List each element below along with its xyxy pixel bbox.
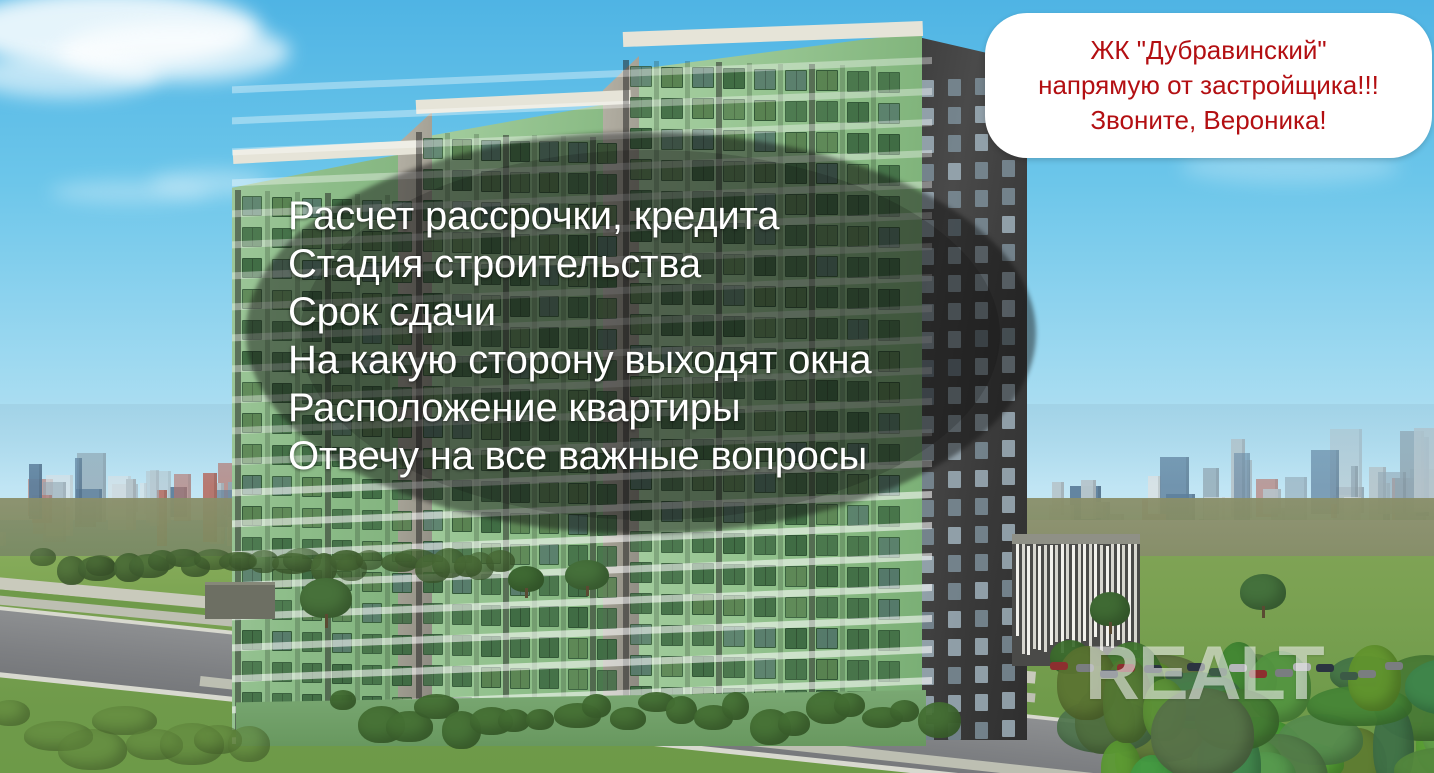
- facade-window: [539, 637, 559, 658]
- tree: [610, 707, 646, 729]
- overlay-line-5: Расположение квартиры: [288, 384, 1008, 432]
- facade-window: [754, 565, 776, 586]
- tower-window: [921, 612, 934, 629]
- facade-window: [692, 594, 714, 615]
- tower-window: [921, 668, 934, 685]
- tree-trunk: [1262, 606, 1265, 618]
- promo-banner: ЖК "Дубравинский" напрямую от застройщик…: [985, 13, 1432, 158]
- facade-window: [661, 98, 683, 119]
- facade-window: [847, 102, 869, 123]
- facade-window: [692, 532, 714, 553]
- tower-window: [921, 556, 934, 573]
- facade-window: [392, 573, 412, 593]
- tower-window: [948, 667, 961, 684]
- tower-window: [948, 639, 961, 656]
- facade-window: [878, 599, 900, 620]
- facade-window: [754, 627, 776, 648]
- facade-window: [847, 536, 869, 557]
- facade-window: [423, 138, 443, 159]
- utility-building: [205, 582, 275, 619]
- facade-window: [481, 667, 501, 688]
- facade-window: [692, 98, 714, 119]
- building-fin: [1055, 545, 1058, 642]
- facade-window: [878, 506, 900, 527]
- facade-window: [661, 656, 683, 677]
- overlay-line-3: Срок сдачи: [288, 288, 1008, 336]
- facade-window: [302, 508, 322, 528]
- tower-window: [975, 694, 988, 711]
- facade-window: [242, 630, 262, 650]
- tower-window: [948, 163, 961, 180]
- facade-window: [847, 505, 869, 526]
- tree: [330, 690, 356, 710]
- facade-window: [630, 593, 652, 614]
- facade-window: [723, 626, 745, 647]
- building-fin: [1128, 543, 1131, 641]
- overlay-line-1: Расчет рассрочки, кредита: [288, 192, 1008, 240]
- facade-window: [878, 661, 900, 682]
- facade-window: [692, 625, 714, 646]
- facade-window: [272, 600, 292, 620]
- tower-window: [921, 500, 934, 517]
- tower-window: [1002, 664, 1015, 681]
- facade-window: [272, 507, 292, 527]
- facade-window: [481, 605, 501, 626]
- facade-window: [723, 99, 745, 120]
- facade-window: [597, 670, 617, 691]
- facade-window: [630, 66, 652, 87]
- tree: [1090, 592, 1130, 626]
- facade-window: [878, 103, 900, 124]
- facade-window: [242, 661, 262, 681]
- facade-window: [510, 606, 530, 627]
- tower-window: [921, 640, 934, 657]
- facade-window: [539, 606, 559, 627]
- building-fin: [1050, 545, 1053, 645]
- tree: [300, 578, 352, 618]
- tree: [778, 711, 810, 736]
- facade-window: [452, 604, 472, 625]
- facade-window: [242, 413, 262, 433]
- parked-car: [1385, 662, 1403, 670]
- facade-window: [878, 72, 900, 93]
- building-fin: [1061, 543, 1064, 653]
- facade-window: [392, 635, 412, 655]
- facade-window: [362, 603, 382, 623]
- tower-window: [975, 610, 988, 627]
- facade-window: [452, 666, 472, 687]
- facade-window: [785, 628, 807, 649]
- facade-window: [785, 597, 807, 618]
- facade-window: [539, 668, 559, 689]
- tower-window: [975, 722, 988, 739]
- facade-window: [597, 608, 617, 629]
- facade-pilaster: [235, 190, 241, 730]
- facade-window: [847, 629, 869, 650]
- building-fin: [1078, 541, 1081, 644]
- facade-window: [754, 596, 776, 617]
- tree-trunk: [586, 586, 589, 596]
- building-fin: [1038, 546, 1041, 650]
- facade-window: [423, 634, 443, 655]
- facade-window: [242, 506, 262, 526]
- facade-window: [816, 628, 838, 649]
- facade-window: [423, 665, 443, 686]
- facade-window: [242, 227, 262, 247]
- building-fin: [1022, 544, 1025, 654]
- facade-window: [816, 597, 838, 618]
- facade-window: [362, 634, 382, 654]
- facade-window: [481, 636, 501, 657]
- facade-window: [452, 635, 472, 656]
- facade-window: [723, 68, 745, 89]
- tower-window: [948, 583, 961, 600]
- tower-window: [948, 499, 961, 516]
- facade-window: [597, 639, 617, 660]
- tower-window: [921, 584, 934, 601]
- tower-window: [975, 162, 988, 179]
- tower-window: [1002, 692, 1015, 709]
- tree: [582, 694, 611, 718]
- facade-window: [723, 657, 745, 678]
- facade-window: [754, 534, 776, 555]
- facade-window: [423, 603, 443, 624]
- facade-window: [847, 567, 869, 588]
- facade-window: [847, 660, 869, 681]
- facade-window: [272, 662, 292, 682]
- tower-window: [921, 164, 934, 181]
- facade-window: [847, 71, 869, 92]
- facade-window: [423, 510, 443, 531]
- parked-car: [1050, 662, 1068, 670]
- parked-car: [1358, 670, 1376, 678]
- overlay-line-4: На какую сторону выходят окна: [288, 336, 1008, 384]
- tree: [356, 550, 384, 571]
- facade-window: [816, 132, 838, 153]
- facade-window: [510, 637, 530, 658]
- tower-window: [948, 107, 961, 124]
- facade-window: [242, 475, 262, 495]
- facade-window: [630, 97, 652, 118]
- tower-window: [948, 611, 961, 628]
- facade-window: [630, 624, 652, 645]
- tree: [834, 693, 865, 717]
- cloud: [50, 180, 210, 204]
- facade-window: [630, 655, 652, 676]
- overlay-text-block: Расчет рассрочки, кредита Стадия строите…: [288, 192, 1008, 480]
- facade-window: [816, 70, 838, 91]
- tower-window: [975, 666, 988, 683]
- facade-window: [392, 511, 412, 531]
- tree: [890, 700, 919, 722]
- facade-window: [362, 510, 382, 530]
- facade-window: [692, 67, 714, 88]
- facade-window: [302, 632, 322, 652]
- facade-window: [754, 69, 776, 90]
- facade-window: [754, 100, 776, 121]
- facade-window: [816, 101, 838, 122]
- facade-window: [692, 563, 714, 584]
- facade-window: [332, 633, 352, 653]
- facade-window: [785, 566, 807, 587]
- facade-window: [847, 133, 869, 154]
- tower-window: [975, 554, 988, 571]
- facade-window: [568, 607, 588, 628]
- tower-window: [921, 528, 934, 545]
- promo-banner-line-2: напрямую от застройщика!!!: [1038, 68, 1379, 103]
- tower-window: [975, 498, 988, 515]
- tree: [86, 555, 115, 576]
- tower-window: [975, 582, 988, 599]
- tree: [722, 692, 749, 721]
- building-fin: [1066, 541, 1069, 639]
- facade-window: [754, 658, 776, 679]
- realt-watermark: REALT: [1085, 630, 1323, 717]
- facade-window: [878, 537, 900, 558]
- facade-window: [816, 535, 838, 556]
- facade-window: [332, 664, 352, 684]
- facade-window: [878, 134, 900, 155]
- facade-window: [785, 70, 807, 91]
- building-fin: [1044, 545, 1047, 652]
- building-fin: [1033, 541, 1036, 649]
- facade-window: [392, 666, 412, 686]
- facade-window: [568, 669, 588, 690]
- facade-window: [302, 663, 322, 683]
- tower-window: [948, 555, 961, 572]
- facade-window: [332, 478, 352, 498]
- facade-window: [392, 604, 412, 624]
- facade-window: [242, 196, 262, 216]
- tower-window: [921, 136, 934, 153]
- tree: [30, 548, 56, 566]
- tower-window: [975, 526, 988, 543]
- facade-window: [723, 533, 745, 554]
- facade-window: [692, 656, 714, 677]
- listing-photo: Расчет рассрочки, кредита Стадия строите…: [0, 0, 1434, 773]
- tree: [486, 550, 515, 572]
- promo-banner-line-1: ЖК "Дубравинский": [1090, 33, 1326, 68]
- facade-window: [816, 566, 838, 587]
- facade-window: [332, 509, 352, 529]
- tree: [1240, 574, 1286, 610]
- parked-car: [1340, 672, 1358, 680]
- facade-window: [661, 563, 683, 584]
- building-fin: [1083, 542, 1086, 641]
- tower-window: [975, 638, 988, 655]
- facade-window: [878, 630, 900, 651]
- tower-window: [975, 134, 988, 151]
- facade-window: [661, 625, 683, 646]
- building-fin: [1016, 540, 1019, 636]
- tower-window: [921, 80, 934, 97]
- facade-window: [661, 67, 683, 88]
- facade-window: [723, 595, 745, 616]
- tower-window: [948, 527, 961, 544]
- facade-window: [539, 544, 559, 565]
- tower-window: [1002, 720, 1015, 737]
- tree: [918, 702, 961, 738]
- tree: [58, 729, 127, 770]
- overlay-line-6: Отвечу на все важные вопросы: [288, 432, 1008, 480]
- facade-window: [568, 638, 588, 659]
- tree: [666, 696, 697, 724]
- facade-window: [242, 444, 262, 464]
- facade-window: [785, 659, 807, 680]
- cloud: [0, 52, 160, 98]
- facade-window: [362, 665, 382, 685]
- overlay-line-2: Стадия строительства: [288, 240, 1008, 288]
- facade-window: [630, 531, 652, 552]
- tree-trunk: [325, 614, 328, 628]
- tree: [228, 726, 270, 762]
- facade-window: [242, 258, 262, 278]
- facade-window: [847, 598, 869, 619]
- facade-window: [785, 101, 807, 122]
- tower-window: [921, 108, 934, 125]
- tower-window: [1002, 496, 1015, 513]
- facade-window: [785, 535, 807, 556]
- tower-window: [1002, 160, 1015, 177]
- facade-window: [723, 564, 745, 585]
- facade-window: [661, 594, 683, 615]
- facade-window: [661, 532, 683, 553]
- tree-trunk: [525, 588, 528, 598]
- facade-window: [878, 568, 900, 589]
- building-fin: [1072, 545, 1075, 647]
- promo-banner-line-3: Звоните, Вероника!: [1090, 103, 1326, 138]
- building-fin: [1027, 546, 1030, 656]
- tree: [526, 709, 554, 730]
- facade-window: [510, 668, 530, 689]
- tower-window: [948, 135, 961, 152]
- facade-window: [630, 562, 652, 583]
- facade-window: [272, 631, 292, 651]
- building-roof: [1012, 534, 1140, 544]
- facade-window: [816, 659, 838, 680]
- tower-window: [948, 79, 961, 96]
